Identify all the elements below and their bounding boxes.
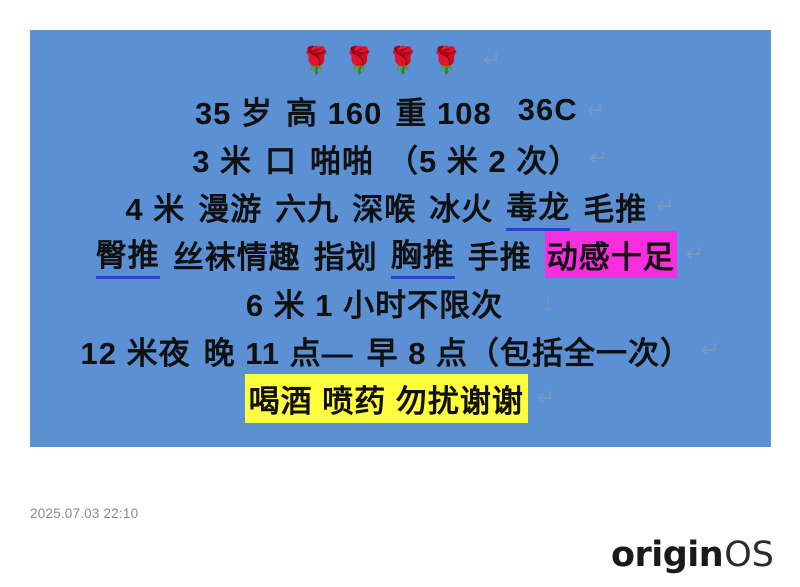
text-segment: 12 米夜 — [80, 328, 190, 373]
text-segment-underlined: 毒龙 — [506, 182, 570, 231]
timestamp-label: 2025.07.03 22:10 — [30, 506, 138, 521]
text-segment-underlined: 臀推 — [96, 230, 160, 279]
text-line-3: 4 米 漫游 六九 深喉 冰火 毒龙 毛推 ↵ — [125, 182, 675, 230]
text-segment-highlight-magenta: 动感十足 — [545, 231, 677, 278]
logo-primary-text: origin — [611, 538, 723, 573]
text-segment: 35 岁 — [195, 88, 273, 133]
text-segment: 丝袜情趣 — [173, 232, 301, 277]
text-segment: 高 160 — [286, 88, 382, 133]
return-mark-icon: ↵ — [686, 241, 705, 267]
text-segment: 早 8 点（包括全一次） — [367, 328, 692, 373]
rose-icon: 🌹 — [387, 45, 430, 76]
rose-emoji-line: 🌹 🌹 🌹 🌹 ↵ — [289, 34, 512, 86]
text-line-2: 3 米 口 啪啪 （5 米 2 次） ↵ — [192, 134, 609, 182]
text-segment: 手推 — [468, 232, 532, 277]
text-segment: 6 米 1 小时不限次 — [246, 280, 503, 325]
text-line-4: 臀推 丝袜情趣 指划 胸推 手推 动感十足 ↵ — [96, 230, 705, 278]
text-segment: 36C — [518, 92, 578, 128]
rose-icon: 🌹 — [343, 45, 386, 76]
rose-icon: 🌹 — [300, 45, 343, 76]
text-segment: 3 米 — [192, 136, 252, 181]
text-segment: 六九 — [275, 184, 339, 229]
text-line-7: 喝酒 喷药 勿扰谢谢 ↵ — [245, 374, 557, 422]
return-mark-icon: ↵ — [587, 97, 606, 123]
rose-icon: 🌹 — [430, 45, 473, 76]
return-mark-icon: ↵ — [589, 145, 608, 171]
text-segment: 4 米 — [125, 184, 185, 229]
text-line-1: 35 岁 高 160 重 108 36C ↵ — [195, 86, 606, 134]
screenshot-image: 🌹 🌹 🌹 🌹 ↵ 35 岁 高 160 重 108 36C ↵ 3 米 口 啪… — [30, 30, 771, 447]
text-segment: 冰火 — [429, 184, 493, 229]
text-line-6: 12 米夜 晚 11 点— 早 8 点（包括全一次） ↵ — [80, 326, 720, 374]
originos-logo: origin OS — [611, 538, 774, 573]
text-segment: 晚 11 点— — [204, 328, 354, 373]
text-segment: 指划 — [314, 232, 378, 277]
text-segment: （5 米 2 次） — [387, 136, 580, 181]
text-segment: 毛推 — [583, 184, 647, 229]
return-mark-icon: ↵ — [537, 385, 556, 411]
text-segment: 漫游 — [198, 184, 262, 229]
text-segment: 口 — [265, 136, 297, 181]
screenshot-text-block: 🌹 🌹 🌹 🌹 ↵ 35 岁 高 160 重 108 36C ↵ 3 米 口 啪… — [30, 30, 771, 447]
return-mark-icon: ↵ — [701, 337, 720, 363]
return-mark-icon: ↵ — [656, 193, 675, 219]
text-segment: 深喉 — [352, 184, 416, 229]
down-arrow-icon: ↓ — [541, 287, 555, 318]
text-segment: 啪啪 — [310, 136, 374, 181]
text-line-5: 6 米 1 小时不限次 ↓ — [246, 278, 555, 326]
logo-secondary-text: OS — [724, 538, 774, 573]
return-mark-icon: ↵ — [483, 47, 512, 73]
text-segment-underlined: 胸推 — [391, 230, 455, 279]
text-segment-highlight-yellow: 喝酒 喷药 勿扰谢谢 — [245, 374, 528, 423]
text-segment: 重 108 — [395, 88, 491, 133]
